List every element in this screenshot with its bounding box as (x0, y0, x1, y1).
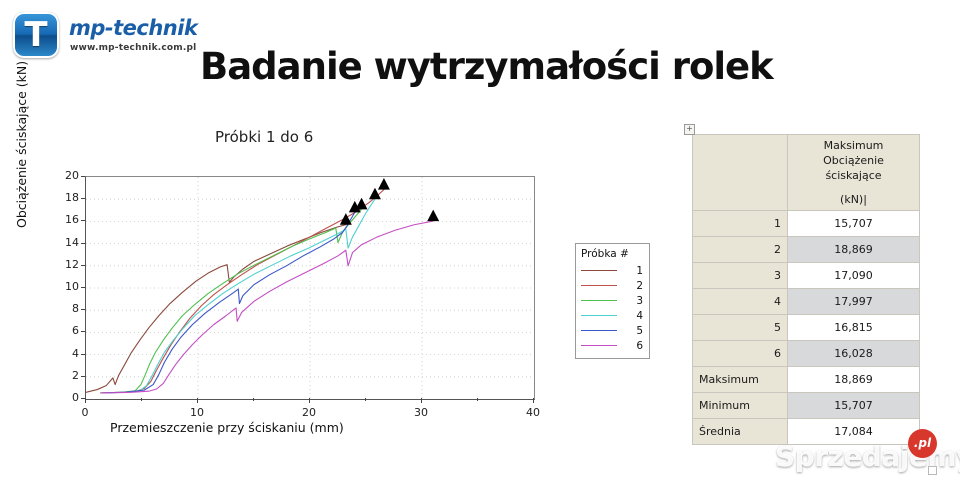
y-tick-label: 10 (57, 280, 79, 293)
header-line-2: ściskające (794, 168, 913, 183)
table-row-value: 18,869 (788, 367, 920, 393)
x-tick-mark (365, 398, 366, 401)
results-table: Maksimum Obciążenie ściskające (kN)| 115… (692, 134, 920, 445)
table-row: Maksimum18,869 (693, 367, 920, 393)
legend-label: 6 (617, 340, 643, 352)
chart-series-3 (102, 209, 362, 393)
legend-title: Próbka # (581, 248, 643, 260)
y-tick-mark (81, 376, 85, 377)
legend-label: 1 (617, 265, 643, 277)
chart-series-2 (101, 190, 384, 393)
table-row-label: 6 (693, 341, 788, 367)
logo-url: www.mp-technik.com.pl (70, 43, 196, 53)
x-tick-mark (85, 398, 86, 403)
table-row: 317,090 (693, 263, 920, 289)
header-line-3: (kN)| (794, 192, 913, 207)
table-row-label: Średnia (693, 419, 788, 445)
legend-label: 4 (617, 310, 643, 322)
y-tick-label: 12 (57, 258, 79, 271)
x-tick-mark (197, 398, 198, 403)
legend-label: 5 (617, 325, 643, 337)
x-tick-mark (421, 398, 422, 403)
y-tick-label: 6 (57, 324, 79, 337)
x-tick-label: 30 (406, 406, 436, 419)
table-move-handle[interactable]: + (684, 124, 695, 135)
y-tick-label: 20 (57, 169, 79, 182)
x-tick-mark (141, 398, 142, 401)
legend-item-5: 5 (581, 323, 643, 338)
table-row-label: 2 (693, 237, 788, 263)
legend-swatch-3 (581, 300, 617, 301)
table-row: 218,869 (693, 237, 920, 263)
chart-title: Próbki 1 do 6 (215, 128, 313, 146)
legend-swatch-1 (581, 270, 617, 271)
logo-mark-icon: T (13, 12, 59, 58)
y-tick-mark (81, 176, 85, 177)
results-table-container: + Maksimum Obciążenie ściskające (kN)| 1… (692, 134, 920, 445)
page-title: Badanie wytrzymałości rolek (200, 45, 800, 88)
y-tick-mark (81, 220, 85, 221)
table-row-label: Maksimum (693, 367, 788, 393)
y-tick-label: 4 (57, 347, 79, 360)
table-row-value: 18,869 (788, 237, 920, 263)
table-row-label: 4 (693, 289, 788, 315)
table-row-value: 15,707 (788, 211, 920, 237)
brand-logo: T mp-technik www.mp-technik.com.pl (13, 12, 198, 60)
table-row-value: 16,028 (788, 341, 920, 367)
y-tick-mark (81, 265, 85, 266)
table-row-label: 3 (693, 263, 788, 289)
table-row: 417,997 (693, 289, 920, 315)
logo-wordmark: mp-technik (69, 16, 197, 40)
x-tick-label: 20 (294, 406, 324, 419)
legend-item-3: 3 (581, 293, 643, 308)
x-tick-mark (533, 398, 534, 403)
chart-series-1 (86, 225, 346, 393)
table-row-label: Minimum (693, 393, 788, 419)
legend-label: 3 (617, 295, 643, 307)
y-tick-mark (81, 309, 85, 310)
y-tick-label: 0 (57, 391, 79, 404)
y-tick-label: 14 (57, 236, 79, 249)
chart-x-axis-label: Przemieszczenie przy ściskaniu (mm) (110, 420, 344, 435)
chart-series-6 (102, 221, 434, 393)
x-tick-mark (309, 398, 310, 403)
chart-legend: Próbka # 123456 (575, 243, 650, 359)
table-row: 616,028 (693, 341, 920, 367)
y-tick-label: 2 (57, 369, 79, 382)
y-tick-mark (81, 354, 85, 355)
y-tick-mark (81, 287, 85, 288)
legend-swatch-2 (581, 285, 617, 286)
x-tick-label: 0 (70, 406, 100, 419)
chart-svg (86, 177, 534, 399)
legend-rows: 123456 (581, 263, 643, 353)
legend-item-6: 6 (581, 338, 643, 353)
chart-series-5 (102, 212, 355, 393)
legend-label: 2 (617, 280, 643, 292)
table-header-row: Maksimum Obciążenie ściskające (kN)| (693, 135, 920, 211)
watermark-badge: .pl (908, 429, 937, 458)
x-tick-mark (477, 398, 478, 401)
legend-swatch-4 (581, 315, 617, 316)
resize-handle[interactable] (928, 466, 937, 475)
table-header-label-cell (693, 135, 788, 211)
chart-y-axis-label: Obciążenie ściskające (kN) (14, 61, 29, 228)
peak-marker-6 (427, 210, 439, 222)
y-tick-mark (81, 243, 85, 244)
table-row-value: 17,997 (788, 289, 920, 315)
y-tick-label: 18 (57, 191, 79, 204)
y-tick-label: 8 (57, 302, 79, 315)
table-row: 516,815 (693, 315, 920, 341)
table-row: 115,707 (693, 211, 920, 237)
y-tick-mark (81, 198, 85, 199)
table-header-value-cell: Maksimum Obciążenie ściskające (kN)| (788, 135, 920, 211)
table-row-label: 5 (693, 315, 788, 341)
table-row: Minimum15,707 (693, 393, 920, 419)
legend-swatch-5 (581, 330, 617, 331)
table-row-value: 17,090 (788, 263, 920, 289)
x-tick-label: 10 (182, 406, 212, 419)
x-tick-mark (253, 398, 254, 401)
table-row-value: 15,707 (788, 393, 920, 419)
peak-marker-2 (378, 178, 390, 190)
y-tick-label: 16 (57, 213, 79, 226)
legend-swatch-6 (581, 345, 617, 346)
table-row-value: 16,815 (788, 315, 920, 341)
legend-item-4: 4 (581, 308, 643, 323)
header-line-1: Maksimum Obciążenie (794, 138, 913, 168)
x-tick-label: 40 (518, 406, 548, 419)
chart-container: Próbki 1 do 6 Obciążenie ściskające (kN)… (20, 120, 580, 450)
table-row-label: 1 (693, 211, 788, 237)
chart-plot-area (85, 176, 535, 400)
legend-item-2: 2 (581, 278, 643, 293)
y-tick-mark (81, 331, 85, 332)
logo-letter: T (13, 12, 59, 58)
legend-item-1: 1 (581, 263, 643, 278)
